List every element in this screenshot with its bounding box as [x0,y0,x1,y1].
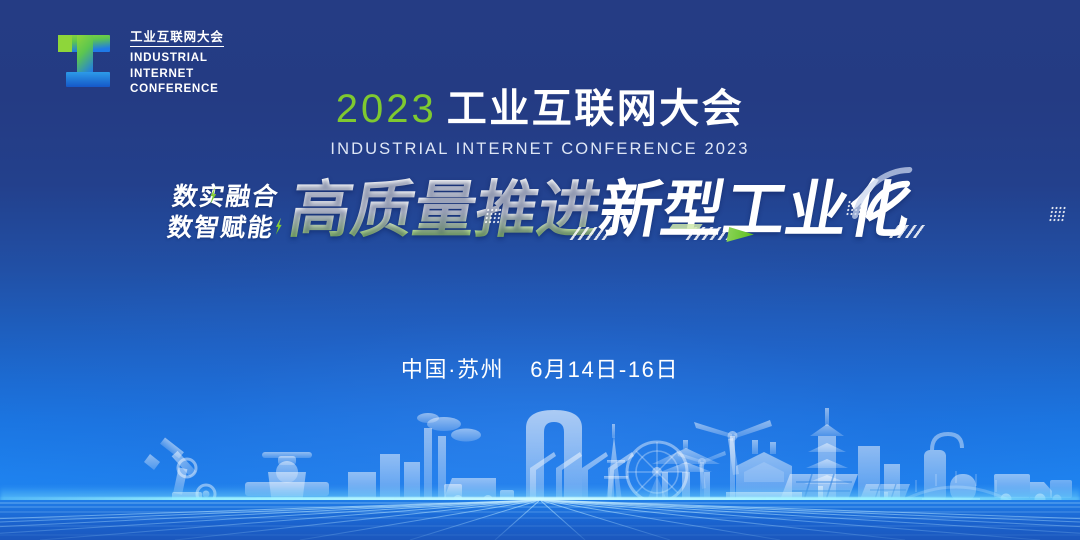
logo-chinese-name: 工业互联网大会 [130,30,224,47]
conference-logo[interactable]: 工业互联网大会 INDUSTRIAL INTERNET CONFERENCE [56,30,224,97]
logo-en-line-1: INDUSTRIAL [130,50,224,65]
headline-block: 数实融合 数智赋能 高质量推进新型工业化 [0,180,1080,242]
main-slogan-part-1: 高质量推 [284,176,544,245]
conference-banner: 工业互联网大会 INDUSTRIAL INTERNET CONFERENCE 2… [0,0,1080,540]
title-chinese: 工业互联网大会 [447,87,745,131]
page-title: 2023工业互联网大会 [0,88,1080,131]
secondary-slogan: 数实融合 数智赋能 [165,184,281,242]
title-year: 2023 [336,87,437,131]
event-meta: 中国·苏州6月14日-16日 [0,352,1080,384]
perspective-grid [0,500,1080,540]
logo-text-block: 工业互联网大会 INDUSTRIAL INTERNET CONFERENCE [130,30,224,97]
title-english-subtitle: INDUSTRIAL INTERNET CONFERENCE 2023 [0,140,1080,159]
industrial-internet-conference-logo-icon [56,32,119,94]
dot-grid-decoration [1048,206,1067,222]
conference-title-block: 2023工业互联网大会 INDUSTRIAL INTERNET CONFEREN… [0,88,1080,159]
main-slogan-part-3: 新型工业化 [594,176,916,245]
slogan-line-1: 数实融合 [170,184,281,211]
event-location: 中国·苏州 [401,357,504,382]
perspective-floor [0,500,1080,540]
slogan-line-1-text: 数实融合 [170,183,281,211]
slogan-line-2-text: 数智赋能 [165,214,276,242]
main-slogan: 高质量推进新型工业化 [285,180,916,242]
logo-en-line-2: INTERNET [130,66,224,81]
event-dates: 6月14日-16日 [530,357,679,382]
slogan-line-2: 数智赋能 [165,215,276,242]
